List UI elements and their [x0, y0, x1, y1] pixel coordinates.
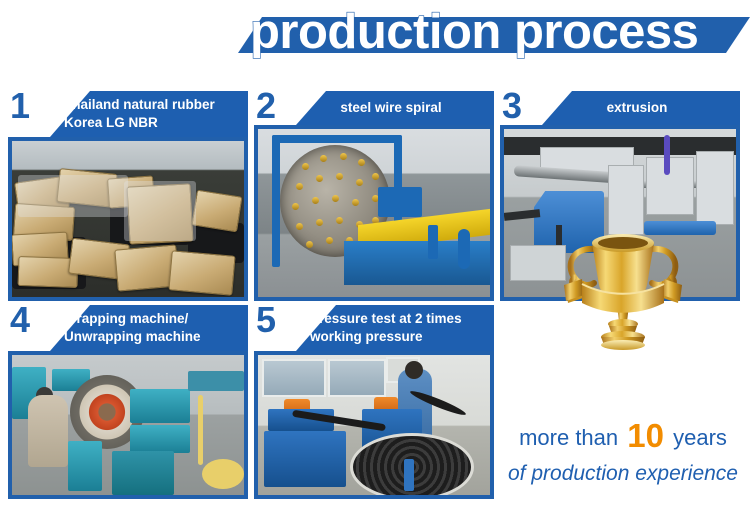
step-3-number: 3: [502, 88, 522, 124]
step-5-number: 5: [256, 302, 276, 338]
title-banner: production process: [0, 0, 750, 88]
step-card-1: 1 Thailand natural rubber Korea LG NBR: [8, 91, 248, 301]
years-number: 10: [624, 417, 667, 454]
step-4-label-line-1: Wrapping machine/: [64, 310, 242, 328]
production-process-infographic: production process 1 Thailand natural ru…: [0, 0, 750, 525]
step-2-label-line-1: steel wire spiral: [340, 99, 441, 117]
step-4-header: 4 Wrapping machine/ Unwrapping machine: [8, 305, 248, 351]
years-prefix: more than: [519, 425, 618, 450]
step-2-number: 2: [256, 88, 276, 124]
step-4-number: 4: [10, 302, 30, 338]
step-card-4: 4 Wrapping machine/ Unwrapping machine: [8, 305, 248, 499]
years-suffix: years: [673, 425, 727, 450]
experience-subline: of production experience: [500, 462, 746, 486]
step-2-label: steel wire spiral: [294, 91, 488, 125]
step-card-5: 5 Pressure test at 2 times working press…: [254, 305, 494, 499]
step-1-photo: [8, 137, 248, 301]
step-2-header: 2 steel wire spiral: [254, 91, 494, 125]
page-title: production process: [250, 8, 750, 57]
step-1-number: 1: [10, 88, 30, 124]
step-3-label: extrusion: [540, 91, 734, 125]
step-3-header: 3 extrusion: [500, 91, 740, 125]
step-1-label: Thailand natural rubber Korea LG NBR: [64, 91, 242, 137]
step-5-label: Pressure test at 2 times working pressur…: [310, 305, 488, 351]
trophy-icon: [548, 221, 698, 351]
experience-award: more than 10 years of production experie…: [500, 217, 746, 517]
years-headline: more than 10 years: [500, 417, 746, 455]
step-2-photo: [254, 125, 494, 301]
step-1-label-line-2: Korea LG NBR: [64, 114, 242, 132]
step-5-header: 5 Pressure test at 2 times working press…: [254, 305, 494, 351]
step-5-label-line-2: working pressure: [310, 328, 488, 346]
step-5-photo: [254, 351, 494, 499]
step-1-header: 1 Thailand natural rubber Korea LG NBR: [8, 91, 248, 137]
step-card-2: 2 steel wire spiral: [254, 91, 494, 301]
step-4-label-line-2: Unwrapping machine: [64, 328, 242, 346]
step-3-label-line-1: extrusion: [607, 99, 668, 117]
step-5-label-line-1: Pressure test at 2 times: [310, 310, 488, 328]
step-4-label: Wrapping machine/ Unwrapping machine: [64, 305, 242, 351]
step-4-photo: [8, 351, 248, 499]
step-1-label-line-1: Thailand natural rubber: [64, 96, 242, 114]
